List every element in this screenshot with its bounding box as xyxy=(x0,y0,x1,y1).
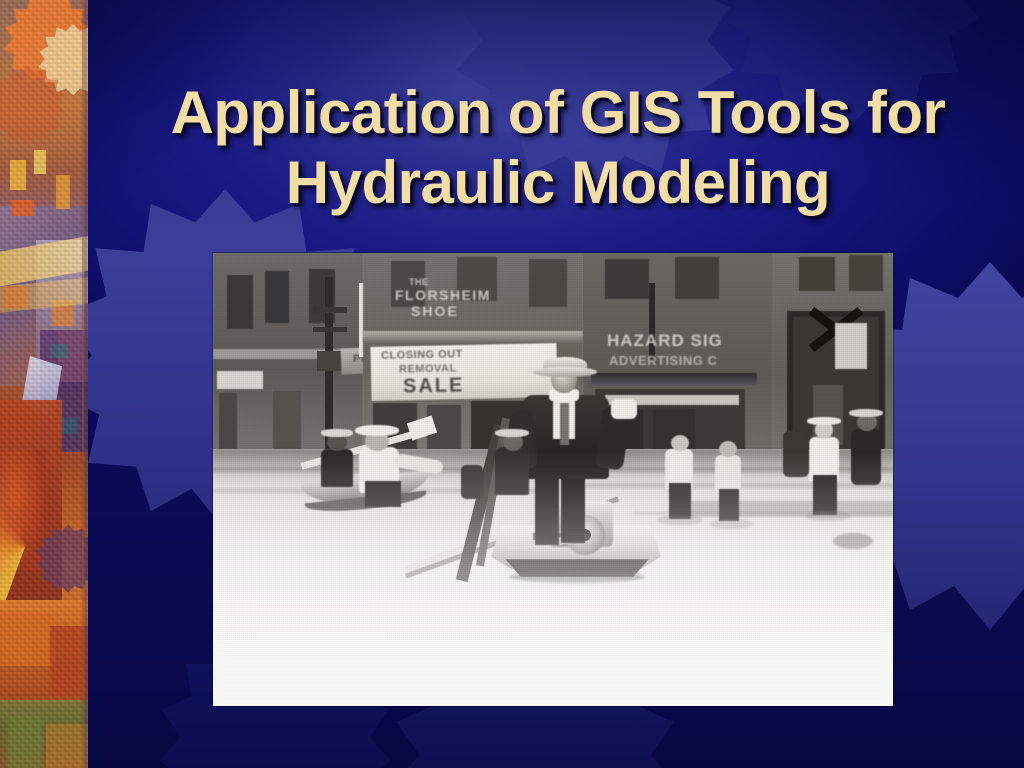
photo-scene: PHOTO THE FLORSHEIM SHOE CLOSING OUT REM… xyxy=(213,253,893,706)
title-line-1: Application of GIS Tools for xyxy=(108,78,1008,148)
page-title: Application of GIS Tools for Hydraulic M… xyxy=(108,78,1008,218)
left-decorative-art-strip xyxy=(0,0,88,768)
title-line-2: Hydraulic Modeling xyxy=(108,148,1008,218)
title-slide: Application of GIS Tools for Hydraulic M… xyxy=(0,0,1024,768)
flood-photograph: PHOTO THE FLORSHEIM SHOE CLOSING OUT REM… xyxy=(213,253,893,706)
photo-film-grain xyxy=(213,253,893,706)
art-strip-edge-fade xyxy=(82,0,88,768)
